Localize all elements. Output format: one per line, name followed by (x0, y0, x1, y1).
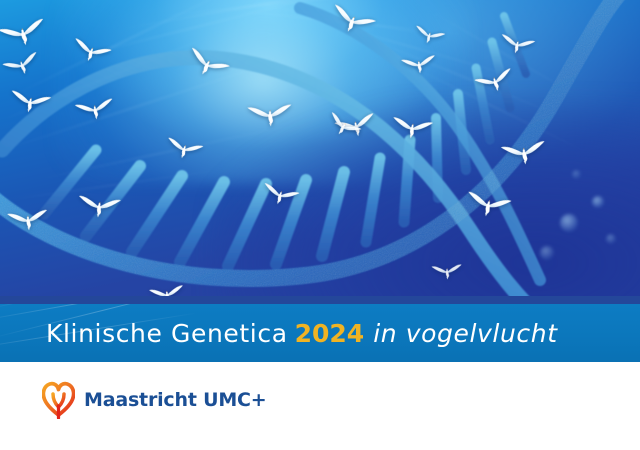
bokeh-dot (540, 246, 554, 260)
bokeh-dot (606, 234, 616, 244)
poster-title: Klinische Genetica 2024 in vogelvlucht (46, 304, 558, 362)
title-band: Klinische Genetica 2024 in vogelvlucht (0, 304, 640, 362)
bird-icon (77, 194, 121, 220)
bokeh-dot (592, 196, 604, 208)
title-main-text: Klinische Genetica (46, 319, 288, 348)
heart-logo-icon (42, 381, 75, 419)
poster-root: Klinische Genetica 2024 in vogelvlucht M… (0, 0, 640, 450)
logo-wordmark: Maastricht UMC+ (84, 391, 267, 410)
bird-icon (431, 263, 462, 281)
title-italic-text: in vogelvlucht (373, 319, 557, 348)
hero-image (0, 0, 640, 296)
band-top-accent (0, 296, 640, 304)
maastricht-umc-logo: Maastricht UMC+ (42, 381, 267, 419)
bird-icon (7, 208, 49, 233)
bokeh-dot (560, 214, 578, 232)
bird-icon (247, 102, 292, 128)
title-year: 2024 (295, 319, 365, 348)
bokeh-dot (572, 170, 581, 179)
